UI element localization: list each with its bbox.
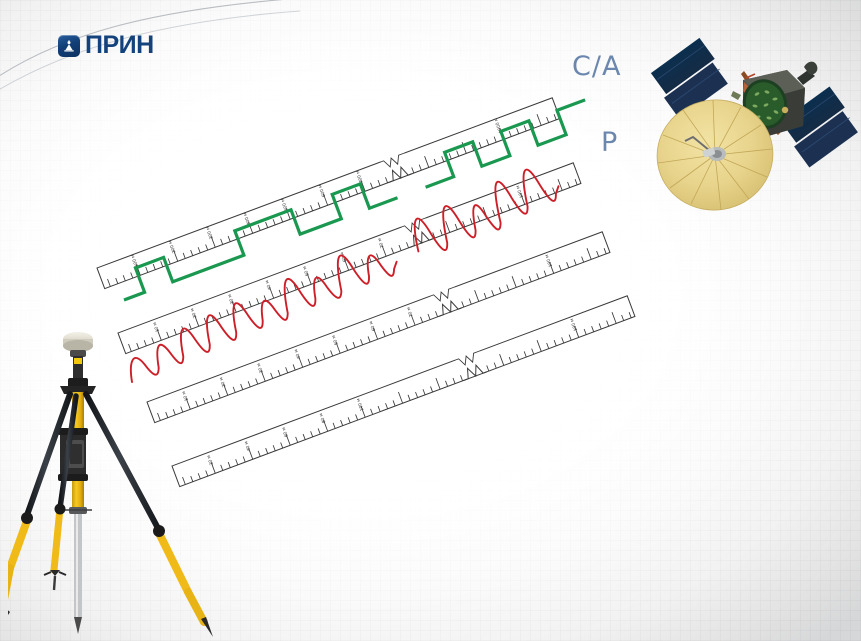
- ruler-tick-label: 100 м: [515, 185, 525, 199]
- ruler-tick-label: 100 м: [544, 254, 554, 268]
- ruler-ca-upper: 100 м 200 м 300 м 400 м 500 м 600 м 700 …: [97, 97, 560, 289]
- brand-logo-text: ПРИН: [85, 33, 154, 58]
- ruler-tick-label: 400 м: [242, 212, 252, 226]
- slide-canvas: ПРИН: [0, 0, 861, 641]
- ruler-tick-label: 60 м: [339, 251, 348, 263]
- ruler-tick-label: 70 м: [406, 306, 415, 318]
- ruler-tick-label: 50 м: [331, 334, 340, 346]
- ruler-tick-label: 500 м: [280, 198, 290, 212]
- ruler-tick-label: 40 м: [264, 279, 273, 291]
- gps-satellite-icon: [645, 0, 861, 215]
- ruler-tick-label: 700 м: [355, 170, 365, 184]
- ruler-tick-label: 80 м: [318, 412, 327, 424]
- ruler-tick-label: 100 м: [130, 254, 140, 268]
- ruler-p-lower: 20 м 40 м 60 м 80 м 100 м 100 м: [172, 296, 635, 487]
- ruler-tick-label: 40 м: [243, 440, 252, 452]
- brand-logo: ПРИН: [58, 33, 154, 58]
- label-ca-code: C/A: [572, 51, 621, 82]
- ruler-tick-label: 70 м: [377, 237, 386, 249]
- ruler-tick-label: 30 м: [227, 293, 236, 305]
- ruler-tick-label: 1000 м: [493, 117, 504, 134]
- ruler-tick-label: 20 м: [189, 307, 198, 319]
- prin-monogram-icon: [58, 35, 80, 57]
- ruler-tick-label: 100 м: [569, 318, 579, 332]
- ruler-tick-label: 60 м: [368, 320, 377, 332]
- signal-ca-code-wave: [115, 100, 594, 300]
- label-p-code: P: [601, 127, 618, 158]
- ruler-tick-label: 60 м: [281, 426, 290, 438]
- ruler-tick-label: 30 м: [256, 362, 265, 374]
- ruler-tick-label: 40 м: [293, 348, 302, 360]
- ruler-tick-label: 50 м: [302, 265, 311, 277]
- gnss-tripod-receiver-icon: [8, 322, 240, 641]
- ruler-tick-label: 600 м: [317, 184, 327, 198]
- ruler-tick-label: 300 м: [205, 226, 215, 240]
- ruler-tick-label: 100 м: [355, 397, 365, 411]
- ruler-tick-label: 200 м: [167, 240, 177, 254]
